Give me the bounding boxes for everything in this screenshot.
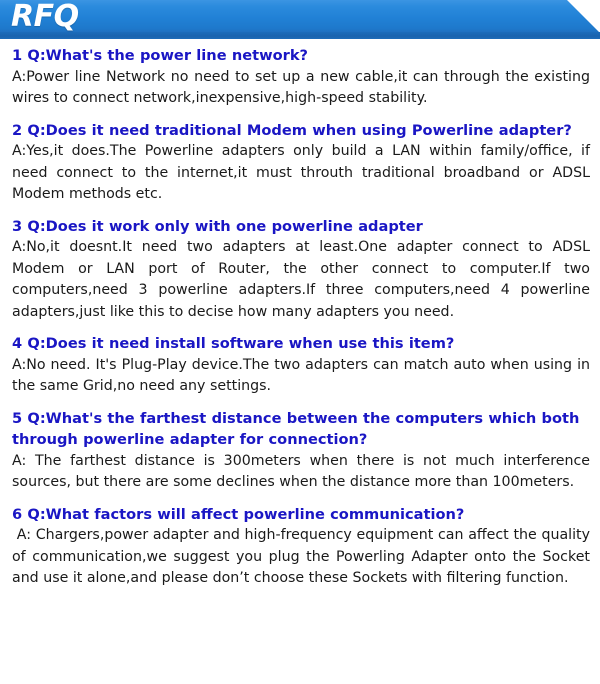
faq-item: 3 Q:Does it work only with one powerline… (12, 216, 590, 324)
faq-question: 1 Q:What's the power line network? (12, 39, 590, 67)
faq-question: 4 Q:Does it need install software when u… (12, 333, 590, 355)
faq-list: 1 Q:What's the power line network? A:Pow… (0, 39, 600, 590)
faq-answer: A:No need. It's Plug-Play device.The two… (12, 355, 590, 398)
faq-item: 5 Q:What's the farthest distance between… (12, 408, 590, 494)
faq-answer: A: Chargers,power adapter and high-frequ… (12, 525, 590, 590)
faq-item: 4 Q:Does it need install software when u… (12, 333, 590, 398)
faq-question: 2 Q:Does it need traditional Modem when … (12, 120, 590, 142)
faq-item: 1 Q:What's the power line network? A:Pow… (12, 39, 590, 110)
faq-question: 3 Q:Does it work only with one powerline… (12, 216, 590, 238)
rfq-header-banner: RFQ (0, 0, 600, 39)
banner-bottom-strip (0, 32, 600, 39)
faq-answer: A:Power line Network no need to set up a… (12, 67, 590, 110)
faq-item: 2 Q:Does it need traditional Modem when … (12, 120, 590, 206)
faq-question: 5 Q:What's the farthest distance between… (12, 408, 590, 451)
faq-item: 6 Q:What factors will affect powerline c… (12, 504, 590, 590)
faq-answer: A: The farthest distance is 300meters wh… (12, 451, 590, 494)
faq-question: 6 Q:What factors will affect powerline c… (12, 504, 590, 526)
banner-title: RFQ (11, 0, 79, 36)
faq-answer: A:Yes,it does.The Powerline adapters onl… (12, 141, 590, 206)
faq-answer: A:No,it doesnt.It need two adapters at l… (12, 237, 590, 323)
